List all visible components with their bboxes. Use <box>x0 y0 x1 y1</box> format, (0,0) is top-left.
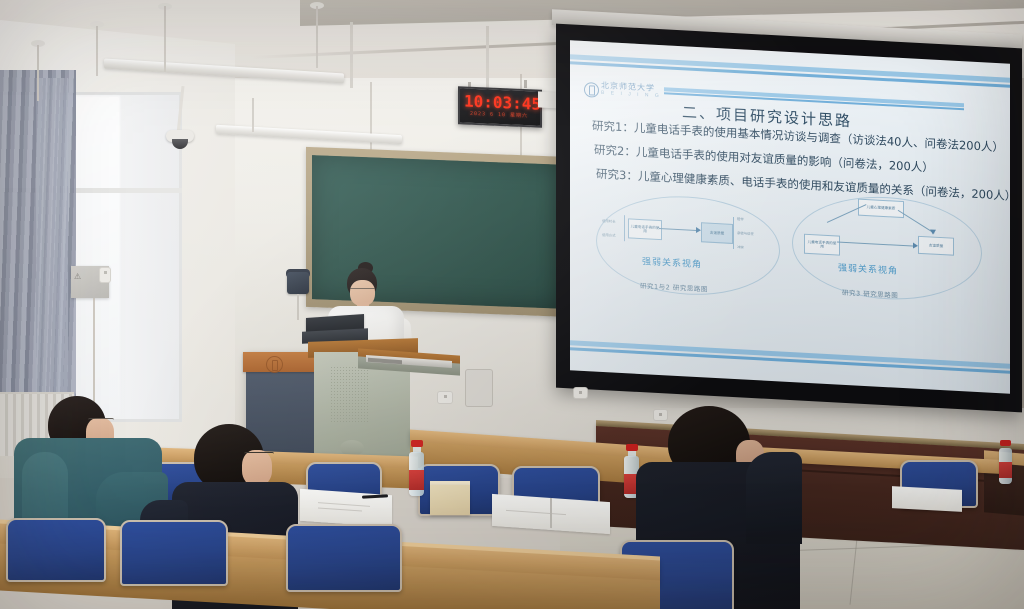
wall-access-panel <box>466 370 492 406</box>
slide-accent-bar-bottom <box>570 340 1010 368</box>
window-curtain-fold <box>36 78 68 423</box>
podium-vent-grille <box>330 366 368 424</box>
light-rod <box>486 26 489 88</box>
wall-power-socket[interactable] <box>654 410 667 420</box>
audience-member-right-arm <box>746 452 802 544</box>
diagram-left-r-label-3: 冲突 <box>737 244 744 249</box>
document-spine <box>550 498 552 528</box>
chair[interactable] <box>286 524 402 592</box>
bottle-cap-icon <box>626 444 638 451</box>
diagram-right-box-2: 儿童电话手表的使用 <box>804 234 840 256</box>
wall-mounted-telephone[interactable] <box>287 272 309 294</box>
clock-hook <box>524 80 527 88</box>
bottle-cap-icon <box>411 440 423 447</box>
bottle-label <box>409 470 424 490</box>
open-document[interactable] <box>892 486 962 512</box>
light-rod <box>252 98 254 132</box>
wall-power-socket[interactable] <box>574 388 587 398</box>
diagram-right-box-1: 儿童心理健康素质 <box>858 199 904 218</box>
projection-screen[interactable]: 北京师范大学 B E I J I N G 二、项目研究设计思路 研究1：儿童电话… <box>570 40 1010 393</box>
phone-cord <box>297 294 299 320</box>
light-rod <box>316 6 318 68</box>
diagram-right-box-3: 友谊质量 <box>918 236 954 256</box>
arrowhead-icon <box>930 229 936 234</box>
bottle-cap-icon <box>1000 440 1011 446</box>
light-rod <box>350 22 353 88</box>
bottle-label <box>999 462 1012 478</box>
wall-switch[interactable] <box>100 268 110 282</box>
diagram-left-r-label-2: 亲密与信任 <box>737 230 754 236</box>
university-crest-icon <box>584 82 599 98</box>
diagram-left-side-label-1: 使用时长 <box>602 218 616 224</box>
diagram-left-box-2: 友谊质量 <box>701 222 733 244</box>
light-rod <box>164 6 166 72</box>
diagram-left-side-label-2: 使用方式 <box>602 232 616 238</box>
university-crest-icon <box>266 356 283 373</box>
classroom-photo-scene: ⚠ 10:03:45 2023 6 10 星期六 北京师范大学 B E I J … <box>0 0 1024 609</box>
diagram-right-caption: 研究3 研究思路图 <box>842 287 898 300</box>
glasses-icon <box>88 418 114 422</box>
chair[interactable] <box>120 520 228 586</box>
warning-icon: ⚠ <box>74 272 84 282</box>
conduit <box>93 298 95 418</box>
light-rod <box>37 45 39 101</box>
diagram-bracket <box>624 215 625 241</box>
university-logo: 北京师范大学 B E I J I N G <box>584 79 662 103</box>
arrowhead-icon <box>913 243 918 249</box>
chair[interactable] <box>6 518 106 582</box>
glasses-icon <box>350 288 375 294</box>
tissue-box[interactable] <box>430 485 470 515</box>
glasses-icon <box>244 452 274 456</box>
wall-power-socket[interactable] <box>438 392 452 403</box>
diagram-bracket <box>733 217 734 249</box>
diagram-left-box-1: 儿童电话手表的使用 <box>628 218 662 240</box>
diagram-left-r-label-1: 陪伴 <box>737 216 744 221</box>
light-rod <box>96 26 98 76</box>
